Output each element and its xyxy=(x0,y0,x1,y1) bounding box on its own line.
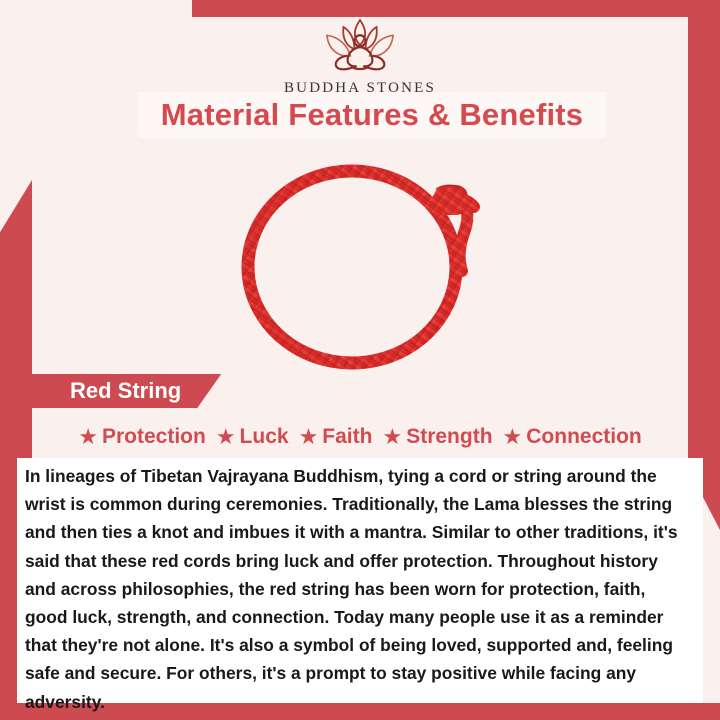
product-image xyxy=(0,152,720,372)
benefit-item-connection: ★ Connection xyxy=(503,425,642,449)
benefit-item-protection: ★ Protection xyxy=(78,425,206,449)
benefit-item-strength: ★ Strength xyxy=(382,425,492,449)
benefits-list: ★ Protection ★ Luck ★ Faith ★ Strength ★… xyxy=(0,419,720,455)
star-icon: ★ xyxy=(503,426,523,448)
material-tag-label: Red String xyxy=(70,378,181,404)
description-text: In lineages of Tibetan Vajrayana Buddhis… xyxy=(25,462,689,716)
star-icon: ★ xyxy=(299,426,319,448)
benefit-label: Strength xyxy=(406,425,492,449)
red-string-bracelet-illustration xyxy=(230,155,490,370)
benefit-item-faith: ★ Faith xyxy=(299,425,373,449)
benefit-label: Faith xyxy=(322,425,372,449)
material-tag: Red String xyxy=(22,374,221,408)
decor-top-bar xyxy=(192,0,720,17)
benefit-item-luck: ★ Luck xyxy=(216,425,289,449)
description-panel: In lineages of Tibetan Vajrayana Buddhis… xyxy=(17,458,703,703)
headline-banner: Material Features & Benefits xyxy=(138,92,606,138)
star-icon: ★ xyxy=(78,426,98,448)
star-icon: ★ xyxy=(382,426,402,448)
star-icon: ★ xyxy=(216,426,236,448)
brand-block: BUDDHA STONES xyxy=(0,16,720,97)
benefit-label: Protection xyxy=(102,425,206,449)
poster-canvas: BUDDHA STONES Material Features & Benefi… xyxy=(0,0,720,720)
page-title: Material Features & Benefits xyxy=(161,97,584,133)
benefit-label: Luck xyxy=(240,425,289,449)
benefit-label: Connection xyxy=(526,425,642,449)
lotus-meditation-figure-icon xyxy=(304,16,416,78)
